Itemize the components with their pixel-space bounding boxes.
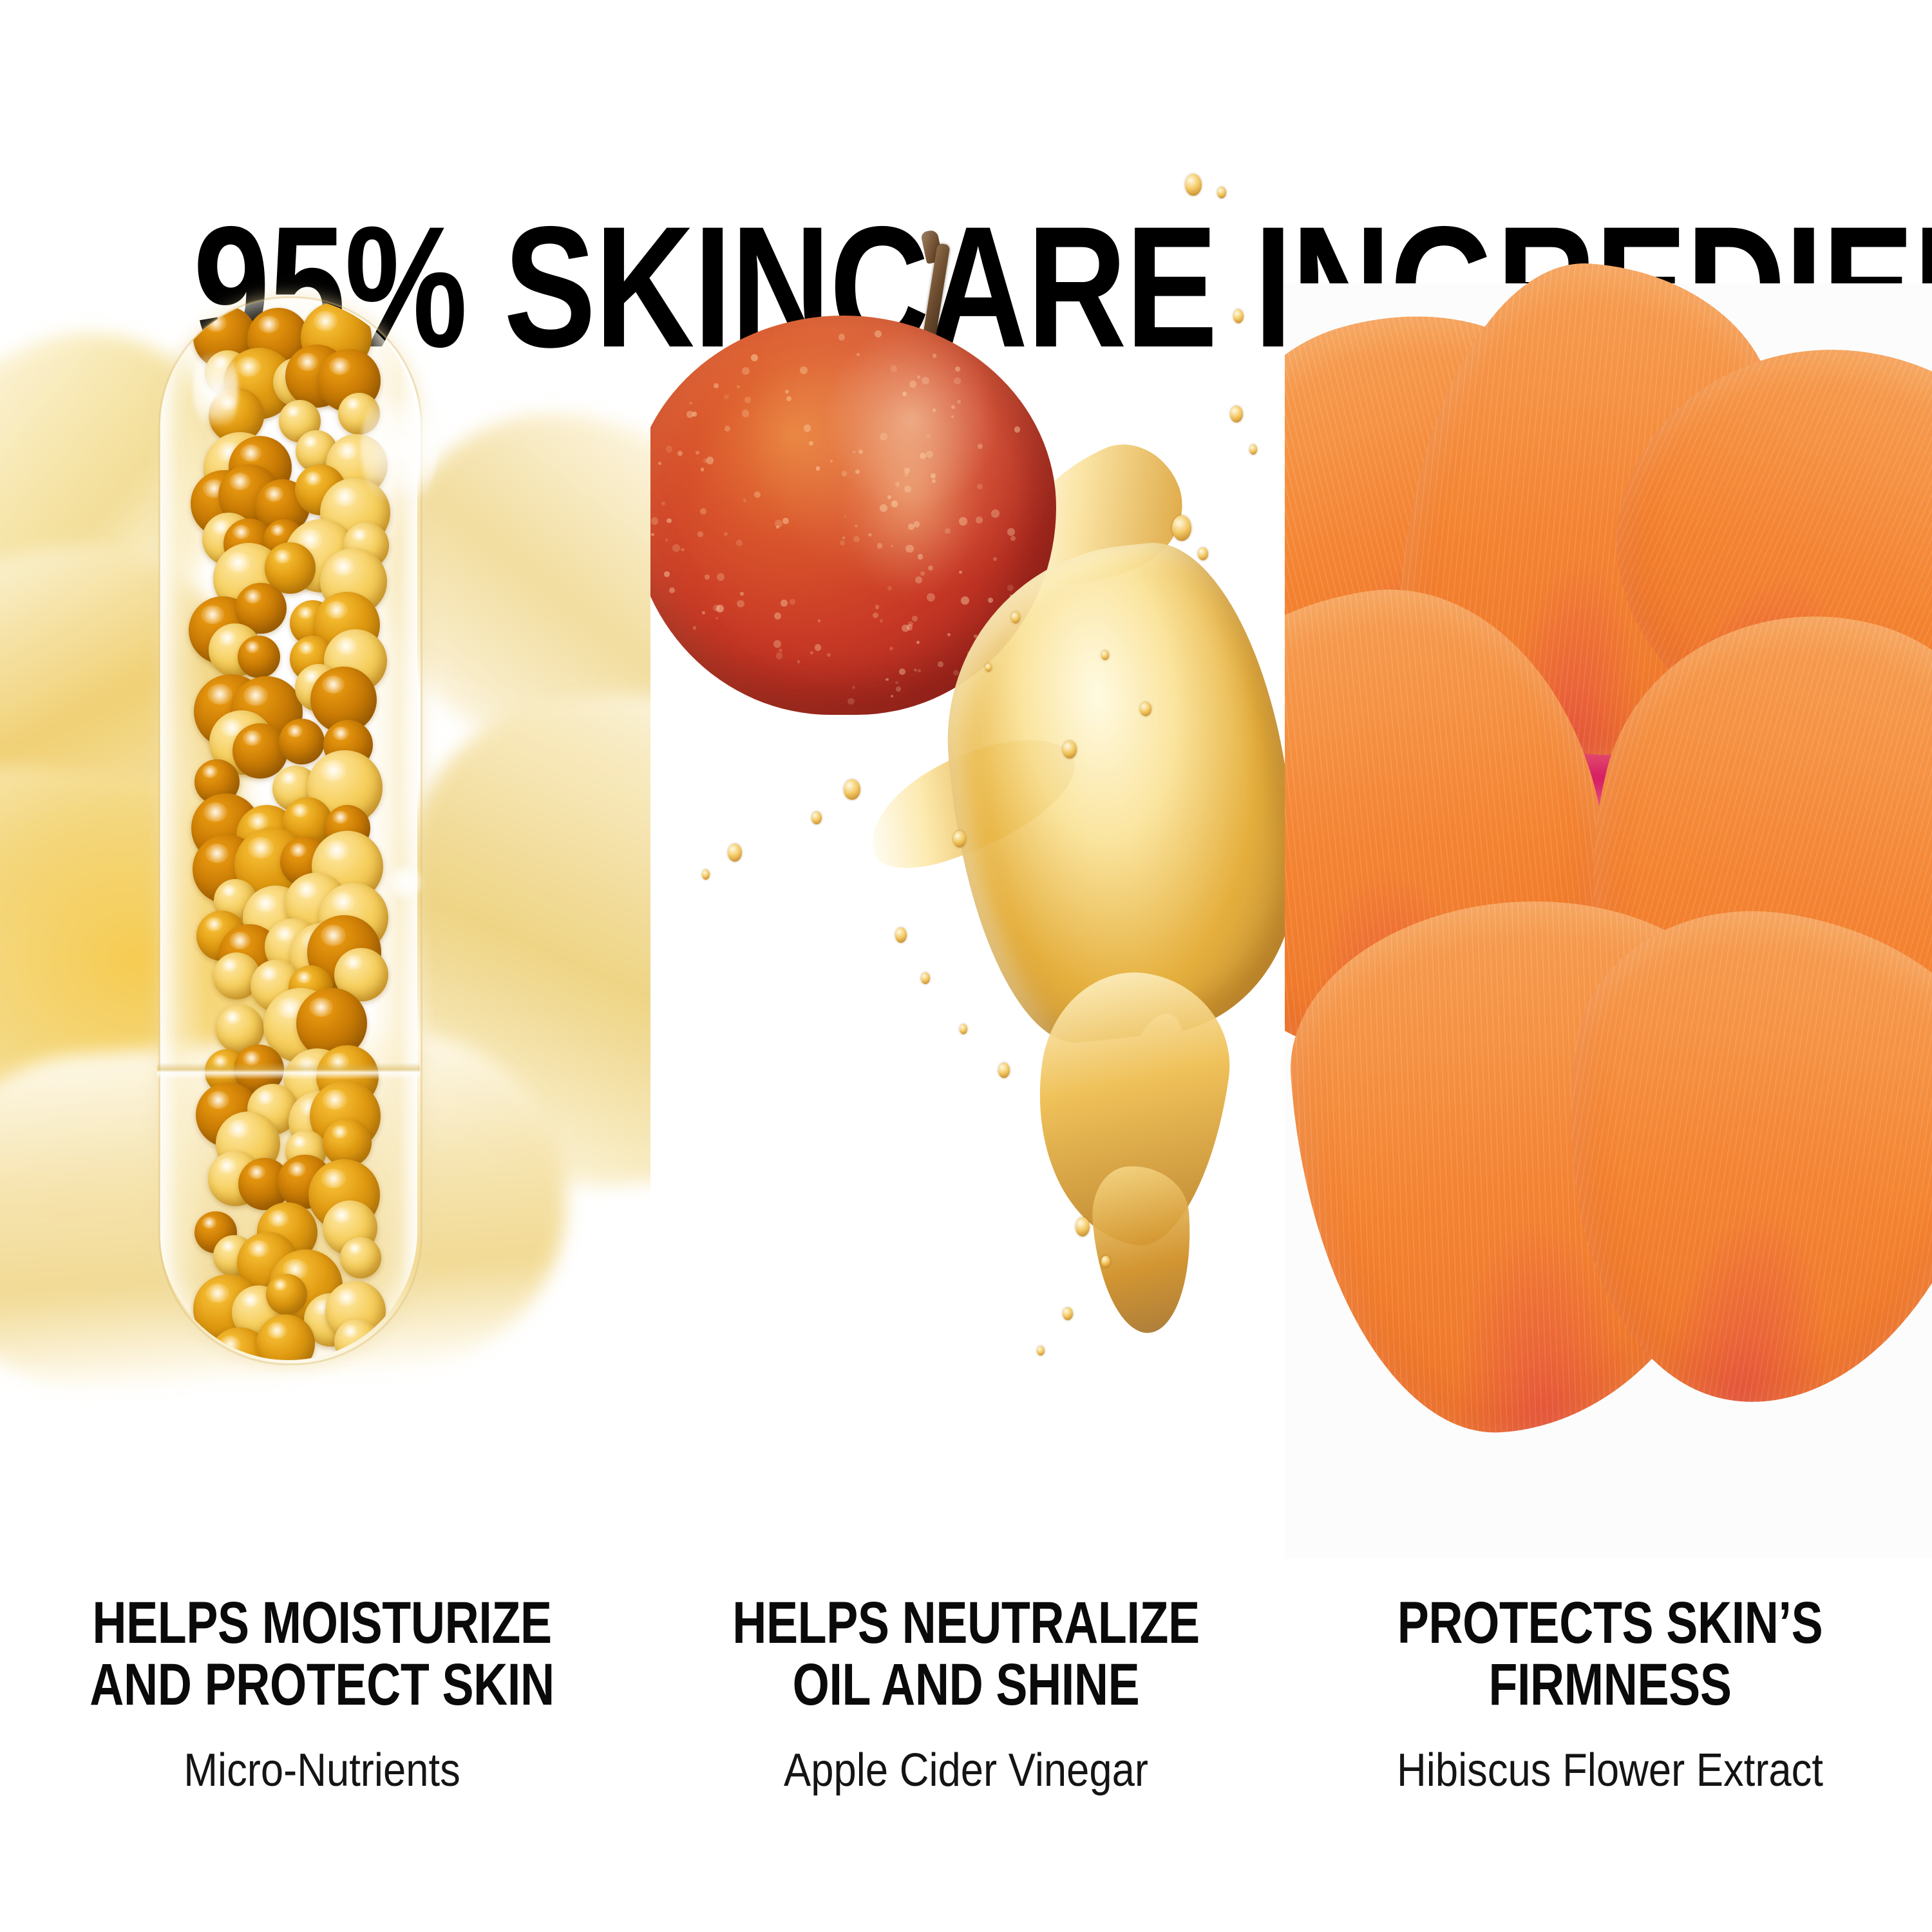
splash-droplet xyxy=(1101,1256,1110,1267)
splash-droplet xyxy=(1249,444,1257,455)
benefit-line-1: PROTECTS SKIN’S xyxy=(1397,1590,1823,1656)
apple-speck xyxy=(669,587,675,593)
apple-speck xyxy=(875,330,882,338)
splash-droplet xyxy=(1233,309,1244,323)
apple-speck xyxy=(714,383,719,389)
splash-droplet xyxy=(960,1024,967,1034)
caption-micro-nutrients: HELPS MOISTURIZE AND PROTECT SKIN Micro-… xyxy=(0,1558,644,1932)
apple-speck xyxy=(661,502,665,506)
splash-droplet xyxy=(1172,515,1191,541)
splash-droplet xyxy=(1140,702,1151,716)
apple-speck xyxy=(667,518,671,523)
apple-speck xyxy=(951,405,955,409)
apple-speck xyxy=(959,571,962,574)
apple-speck xyxy=(742,367,750,375)
splash-droplet xyxy=(921,972,930,984)
apple-speck xyxy=(689,402,692,404)
apple-speck xyxy=(1007,528,1015,536)
apple-speck xyxy=(737,600,744,608)
apple-speck xyxy=(702,611,705,614)
apple-speck xyxy=(908,621,913,626)
apple-speck xyxy=(701,468,705,471)
apple-speck xyxy=(912,616,918,621)
apple-speck xyxy=(781,600,788,607)
splash-droplet xyxy=(985,663,992,672)
image-panel-micro-nutrients xyxy=(0,0,650,1558)
apple-speck xyxy=(743,498,747,502)
apple-speck xyxy=(665,538,668,542)
apple-speck xyxy=(875,605,879,609)
apple-speck xyxy=(651,517,659,525)
apple-speck xyxy=(800,366,808,374)
apple-speck xyxy=(810,651,813,654)
apple-speck xyxy=(677,451,683,456)
apple-speck xyxy=(914,668,917,672)
apple-speck xyxy=(917,375,920,379)
benefit-line-1: HELPS MOISTURIZE xyxy=(92,1590,551,1656)
apple-speck xyxy=(961,596,969,605)
apple-speck xyxy=(857,353,860,357)
apple-speck xyxy=(957,400,960,403)
apple-speck xyxy=(873,612,879,619)
splash-droplet xyxy=(1063,741,1077,759)
apple-speck xyxy=(818,620,821,623)
apple-speck xyxy=(1007,585,1014,591)
capsule-highlight xyxy=(193,341,238,438)
splash-droplet xyxy=(811,811,822,824)
benefit-heading: PROTECTS SKIN’S FIRMNESS xyxy=(1352,1558,1868,1716)
apple-speck xyxy=(706,457,714,464)
apple-speck xyxy=(715,617,718,620)
apple-speck xyxy=(744,397,751,403)
apple-speck xyxy=(902,392,907,396)
apple-speck xyxy=(933,354,936,357)
ingredient-infographic: 95% SKINCARE INGREDIENTS xyxy=(0,0,1932,1932)
image-panel-row xyxy=(0,0,1932,1558)
splash-droplet xyxy=(1198,547,1208,560)
apple-speck xyxy=(785,390,790,394)
apple-speck xyxy=(776,652,783,659)
apple-speck xyxy=(697,531,703,537)
apple-speck xyxy=(838,334,846,341)
benefit-line-2: OIL AND SHINE xyxy=(793,1652,1140,1718)
apple-speck xyxy=(804,424,811,432)
splash-droplet xyxy=(1037,1346,1045,1356)
hibiscus-illustration xyxy=(1285,283,1932,1558)
apple-speck xyxy=(842,536,845,539)
apple-speck xyxy=(716,605,724,612)
apple-speck xyxy=(816,466,820,471)
apple-speck xyxy=(736,540,743,546)
apple-speck xyxy=(947,633,951,636)
apple-speck xyxy=(724,395,728,399)
apple-speck xyxy=(705,574,710,580)
apple-speck xyxy=(955,366,960,372)
apple-speck xyxy=(809,441,813,446)
apple-highlight xyxy=(844,399,979,592)
apple-speck xyxy=(922,377,929,384)
apple-speck xyxy=(895,681,898,685)
apple-speck xyxy=(717,573,724,581)
apple-speck xyxy=(927,593,935,601)
splash-droplet xyxy=(1185,174,1202,196)
caption-hibiscus: PROTECTS SKIN’S FIRMNESS Hibiscus Flower… xyxy=(1288,1558,1932,1932)
apple-speck xyxy=(740,592,744,596)
apple-speck xyxy=(889,647,894,651)
apple-speck xyxy=(773,640,781,648)
apple-speck xyxy=(896,687,901,692)
capsule-highlight xyxy=(386,863,424,902)
apple-speck xyxy=(724,532,727,535)
apple-speck xyxy=(774,612,781,620)
apple-speck xyxy=(899,668,905,675)
apple-speck xyxy=(891,365,897,372)
apple-speck xyxy=(902,625,909,632)
apple-speck xyxy=(840,540,845,545)
ingredient-name: Apple Cider Vinegar xyxy=(683,1716,1249,1795)
apple-speck xyxy=(700,508,706,515)
apple-speck xyxy=(991,509,999,518)
splash-droplet xyxy=(998,1063,1010,1078)
apple-speck xyxy=(938,661,943,667)
apple-speck xyxy=(693,626,697,630)
splash-droplet xyxy=(1230,406,1243,422)
apple-speck xyxy=(918,669,921,672)
apple-speck xyxy=(672,544,680,552)
apple-speck xyxy=(658,462,661,465)
image-panel-apple-cider-vinegar xyxy=(650,0,1285,1558)
apple-speck xyxy=(815,644,822,651)
benefit-heading: HELPS MOISTURIZE AND PROTECT SKIN xyxy=(64,1558,580,1716)
apple-speck xyxy=(954,377,961,384)
apple-speck xyxy=(978,444,983,449)
apple-speck xyxy=(880,619,883,622)
capsule-illustration xyxy=(0,283,650,1404)
splash-droplet xyxy=(1101,650,1109,660)
apple-speck xyxy=(797,660,800,663)
benefit-line-2: FIRMNESS xyxy=(1488,1652,1731,1718)
apple-speck xyxy=(651,533,654,536)
benefit-line-2: AND PROTECT SKIN xyxy=(90,1652,554,1718)
splash-droplet xyxy=(702,869,710,880)
image-panel-hibiscus xyxy=(1285,0,1932,1558)
apple-speck xyxy=(779,649,782,652)
apple-speck xyxy=(724,426,730,431)
apple-speck xyxy=(696,451,699,455)
apple-speck xyxy=(852,686,855,689)
splash-droplet xyxy=(1011,612,1020,623)
splash-droplet xyxy=(895,927,907,943)
apple-speck xyxy=(885,678,889,681)
apple-speck xyxy=(916,641,920,644)
splash-droplet xyxy=(1217,187,1226,198)
apple-speck xyxy=(703,459,708,463)
splash-droplet xyxy=(953,831,966,848)
apple-speck xyxy=(737,385,740,388)
splash-droplet xyxy=(728,844,742,862)
apple-speck xyxy=(775,520,782,527)
apple-speck xyxy=(786,396,791,401)
splash-droplet xyxy=(844,779,860,800)
apple-speck xyxy=(827,653,831,657)
caption-apple-cider-vinegar: HELPS NEUTRALIZE OIL AND SHINE Apple Cid… xyxy=(644,1558,1288,1932)
apple-speck xyxy=(988,598,993,603)
apple-speck xyxy=(681,548,684,551)
apple-speck xyxy=(754,491,761,498)
apple-speck xyxy=(1010,536,1016,541)
benefit-line-1: HELPS NEUTRALIZE xyxy=(732,1590,1200,1656)
capsule-seam xyxy=(157,1063,420,1079)
apple-speck xyxy=(891,695,893,697)
apple-speck xyxy=(692,412,697,416)
apple-speck xyxy=(848,698,854,705)
caption-row: HELPS MOISTURIZE AND PROTECT SKIN Micro-… xyxy=(0,1558,1932,1932)
apple-speck xyxy=(830,460,833,462)
ingredient-name: Hibiscus Flower Extract xyxy=(1327,1716,1893,1795)
ingredient-name: Micro-Nutrients xyxy=(39,1716,605,1795)
apple-speck xyxy=(782,518,790,525)
apple-speck xyxy=(664,571,670,577)
apple-speck xyxy=(666,446,672,452)
apple-speck xyxy=(993,557,997,561)
apple-speck xyxy=(909,381,916,388)
apple-speck xyxy=(742,410,750,417)
benefit-heading: HELPS NEUTRALIZE OIL AND SHINE xyxy=(708,1558,1224,1716)
splash-droplet xyxy=(1063,1307,1073,1320)
apple-splash-illustration xyxy=(650,213,1285,1558)
apple-speck xyxy=(1014,426,1020,432)
splash-droplet xyxy=(1075,1217,1090,1236)
capsule-highlight xyxy=(361,380,438,515)
apple-speck xyxy=(790,599,795,605)
apple-speck xyxy=(751,354,758,361)
